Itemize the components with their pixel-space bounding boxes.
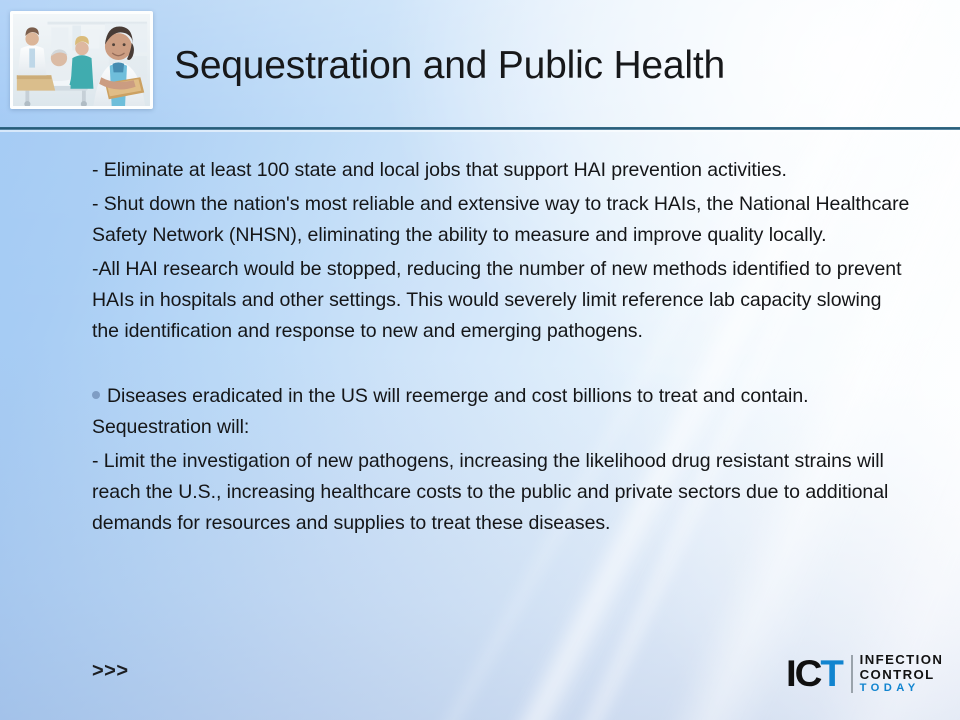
body-paragraph: -All HAI research would be stopped, redu… [92, 254, 910, 347]
header-photo [10, 11, 153, 109]
body-spacer [92, 350, 910, 381]
logo-line-control: CONTROL [860, 668, 944, 683]
logo-line-infection: INFECTION [860, 653, 944, 668]
ict-logo: I C T INFECTION CONTROL TODAY [786, 651, 943, 697]
bullet-dot-icon [92, 391, 100, 399]
ict-letter-t: T [820, 658, 841, 690]
logo-line-today: TODAY [860, 682, 944, 695]
healthcare-workers-photo [13, 14, 150, 108]
ict-letter-i: I [786, 658, 795, 690]
slide-body: - Eliminate at least 100 state and local… [92, 155, 910, 542]
page-title: Sequestration and Public Health [174, 44, 725, 88]
logo-divider [851, 655, 853, 693]
ict-letter-c: C [795, 658, 821, 690]
ict-monogram: I C T [786, 658, 842, 690]
header-divider-highlight [0, 130, 960, 132]
body-paragraph: - Shut down the nation's most reliable a… [92, 189, 910, 251]
body-bullet-label: Diseases eradicated in the US will reeme… [92, 385, 808, 438]
body-paragraph: - Limit the investigation of new pathoge… [92, 446, 910, 539]
footer-chevrons: >>> [92, 660, 129, 683]
body-bullet-item: Diseases eradicated in the US will reeme… [92, 381, 910, 443]
slide-canvas: Sequestration and Public Health - Elimin… [0, 0, 960, 720]
logo-wordmark: INFECTION CONTROL TODAY [860, 653, 944, 695]
body-paragraph: - Eliminate at least 100 state and local… [92, 155, 910, 186]
